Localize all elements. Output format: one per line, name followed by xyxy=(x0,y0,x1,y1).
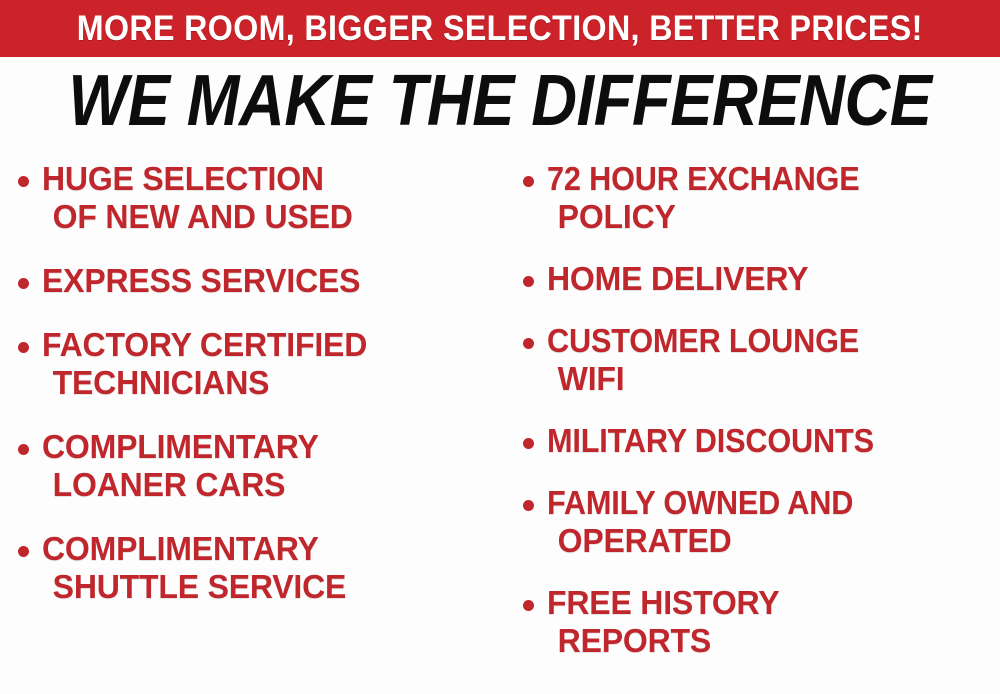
list-item-line-1: HUGE SELECTION xyxy=(42,160,324,198)
list-item-text: EXPRESS SERVICES xyxy=(42,262,513,300)
top-banner-text: MORE ROOM, BIGGER SELECTION, BETTER PRIC… xyxy=(77,11,923,47)
list-item-text: HUGE SELECTION OF NEW AND USED xyxy=(42,160,513,236)
list-item-line-1: CUSTOMER LOUNGE xyxy=(547,322,859,360)
list-item-text: COMPLIMENTARY SHUTTLE SERVICE xyxy=(42,530,513,606)
dot-bullet-icon xyxy=(18,444,29,455)
list-item-line-2: REPORTS xyxy=(547,622,986,660)
list-item-line-2: OPERATED xyxy=(547,522,986,560)
list-item-line-1: MILITARY DISCOUNTS xyxy=(547,422,874,460)
list-item-text: FAMILY OWNED AND OPERATED xyxy=(547,484,1000,560)
list-item: COMPLIMENTARY SHUTTLE SERVICE xyxy=(18,530,513,606)
list-item-line-2: POLICY xyxy=(547,198,986,236)
dot-bullet-icon xyxy=(523,438,534,449)
list-item: 72 HOUR EXCHANGE POLICY xyxy=(523,160,1000,236)
promo-poster: MORE ROOM, BIGGER SELECTION, BETTER PRIC… xyxy=(0,0,1000,694)
list-item-line-1: FREE HISTORY xyxy=(547,584,779,622)
benefits-column-left: HUGE SELECTION OF NEW AND USED EXPRESS S… xyxy=(18,160,513,694)
list-item-text: FREE HISTORY REPORTS xyxy=(547,584,1000,660)
list-item-line-1: COMPLIMENTARY xyxy=(42,530,319,568)
dot-bullet-icon xyxy=(18,176,29,187)
list-item-line-1: 72 HOUR EXCHANGE xyxy=(547,160,860,198)
list-item-line-2: OF NEW AND USED xyxy=(42,198,499,236)
list-item-text: MILITARY DISCOUNTS xyxy=(547,422,1000,460)
list-item: HOME DELIVERY xyxy=(523,260,1000,298)
list-item-text: COMPLIMENTARY LOANER CARS xyxy=(42,428,513,504)
benefits-column-right: 72 HOUR EXCHANGE POLICY HOME DELIVERY CU… xyxy=(523,160,1000,694)
list-item-line-1: HOME DELIVERY xyxy=(547,260,808,298)
list-item-line-1: FACTORY CERTIFIED xyxy=(42,326,367,364)
dot-bullet-icon xyxy=(523,600,534,611)
dot-bullet-icon xyxy=(18,342,29,353)
list-item: COMPLIMENTARY LOANER CARS xyxy=(18,428,513,504)
list-item: FACTORY CERTIFIED TECHNICIANS xyxy=(18,326,513,402)
list-item-line-1: EXPRESS SERVICES xyxy=(42,262,360,300)
dot-bullet-icon xyxy=(18,278,29,289)
dot-bullet-icon xyxy=(523,500,534,511)
dot-bullet-icon xyxy=(18,546,29,557)
list-item-text: FACTORY CERTIFIED TECHNICIANS xyxy=(42,326,513,402)
list-item-text: CUSTOMER LOUNGE WIFI xyxy=(547,322,1000,398)
dot-bullet-icon xyxy=(523,176,534,187)
list-item: FAMILY OWNED AND OPERATED xyxy=(523,484,1000,560)
list-item-line-2: LOANER CARS xyxy=(42,466,499,504)
list-item-line-2: TECHNICIANS xyxy=(42,364,499,402)
list-item: CUSTOMER LOUNGE WIFI xyxy=(523,322,1000,398)
page-title: WE MAKE THE DIFFERENCE xyxy=(60,64,940,138)
list-item-text: 72 HOUR EXCHANGE POLICY xyxy=(547,160,1000,236)
list-item: MILITARY DISCOUNTS xyxy=(523,422,1000,460)
list-item: HUGE SELECTION OF NEW AND USED xyxy=(18,160,513,236)
list-item: FREE HISTORY REPORTS xyxy=(523,584,1000,660)
dot-bullet-icon xyxy=(523,276,534,287)
list-item: EXPRESS SERVICES xyxy=(18,262,513,300)
list-item-line-2: WIFI xyxy=(547,360,986,398)
benefits-columns: HUGE SELECTION OF NEW AND USED EXPRESS S… xyxy=(0,160,1000,694)
list-item-text: HOME DELIVERY xyxy=(547,260,1000,298)
list-item-line-1: COMPLIMENTARY xyxy=(42,428,319,466)
dot-bullet-icon xyxy=(523,338,534,349)
list-item-line-2: SHUTTLE SERVICE xyxy=(42,568,499,606)
top-banner: MORE ROOM, BIGGER SELECTION, BETTER PRIC… xyxy=(0,0,1000,57)
list-item-line-1: FAMILY OWNED AND xyxy=(547,484,853,522)
